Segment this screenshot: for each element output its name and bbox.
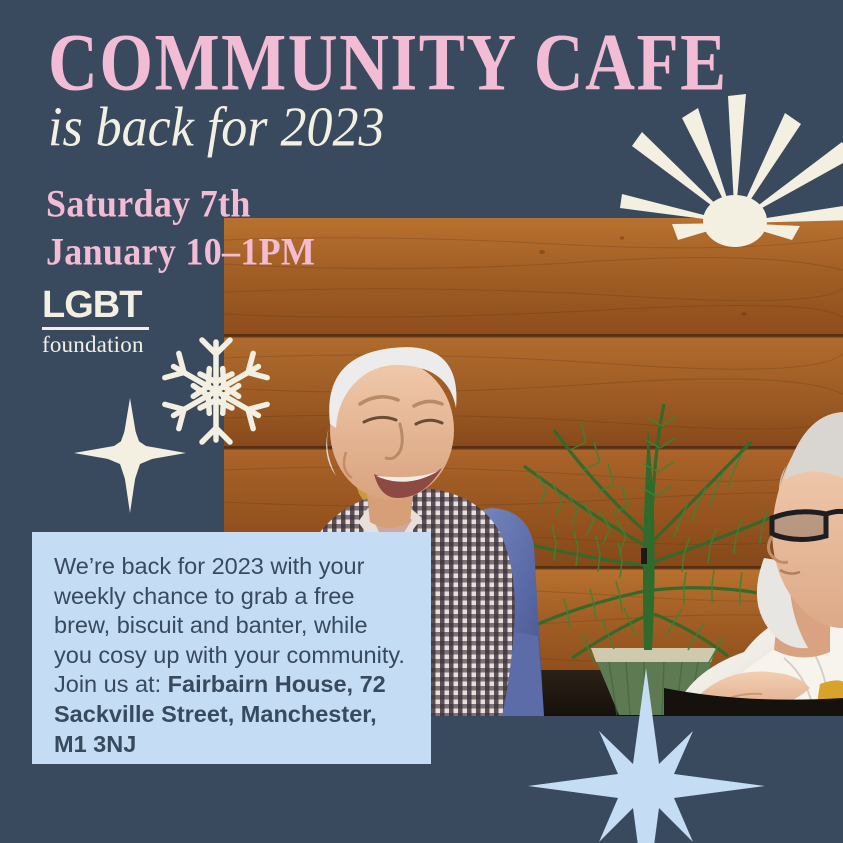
page-title: COMMUNITY CAFE: [48, 22, 728, 103]
logo-subtext: foundation: [42, 330, 149, 356]
eight-point-star-icon: [528, 706, 765, 843]
venue-line: Join us at: Fairbairn House, 72 Sackvill…: [54, 670, 409, 759]
join-prefix: Join us at:: [54, 671, 168, 697]
logo-wordmark: LGBT: [42, 286, 149, 330]
poster-canvas: COMMUNITY CAFE is back for 2023 Saturday…: [0, 0, 843, 843]
lgbt-foundation-logo: LGBT foundation: [42, 286, 149, 356]
event-datetime: Saturday 7th January 10–1PM: [46, 180, 315, 277]
description-panel: We’re back for 2023 with your weekly cha…: [32, 532, 431, 764]
subtitle: is back for 2023: [48, 100, 385, 156]
four-point-star-icon: [74, 398, 186, 513]
description-paragraph: We’re back for 2023 with your weekly cha…: [54, 552, 409, 670]
